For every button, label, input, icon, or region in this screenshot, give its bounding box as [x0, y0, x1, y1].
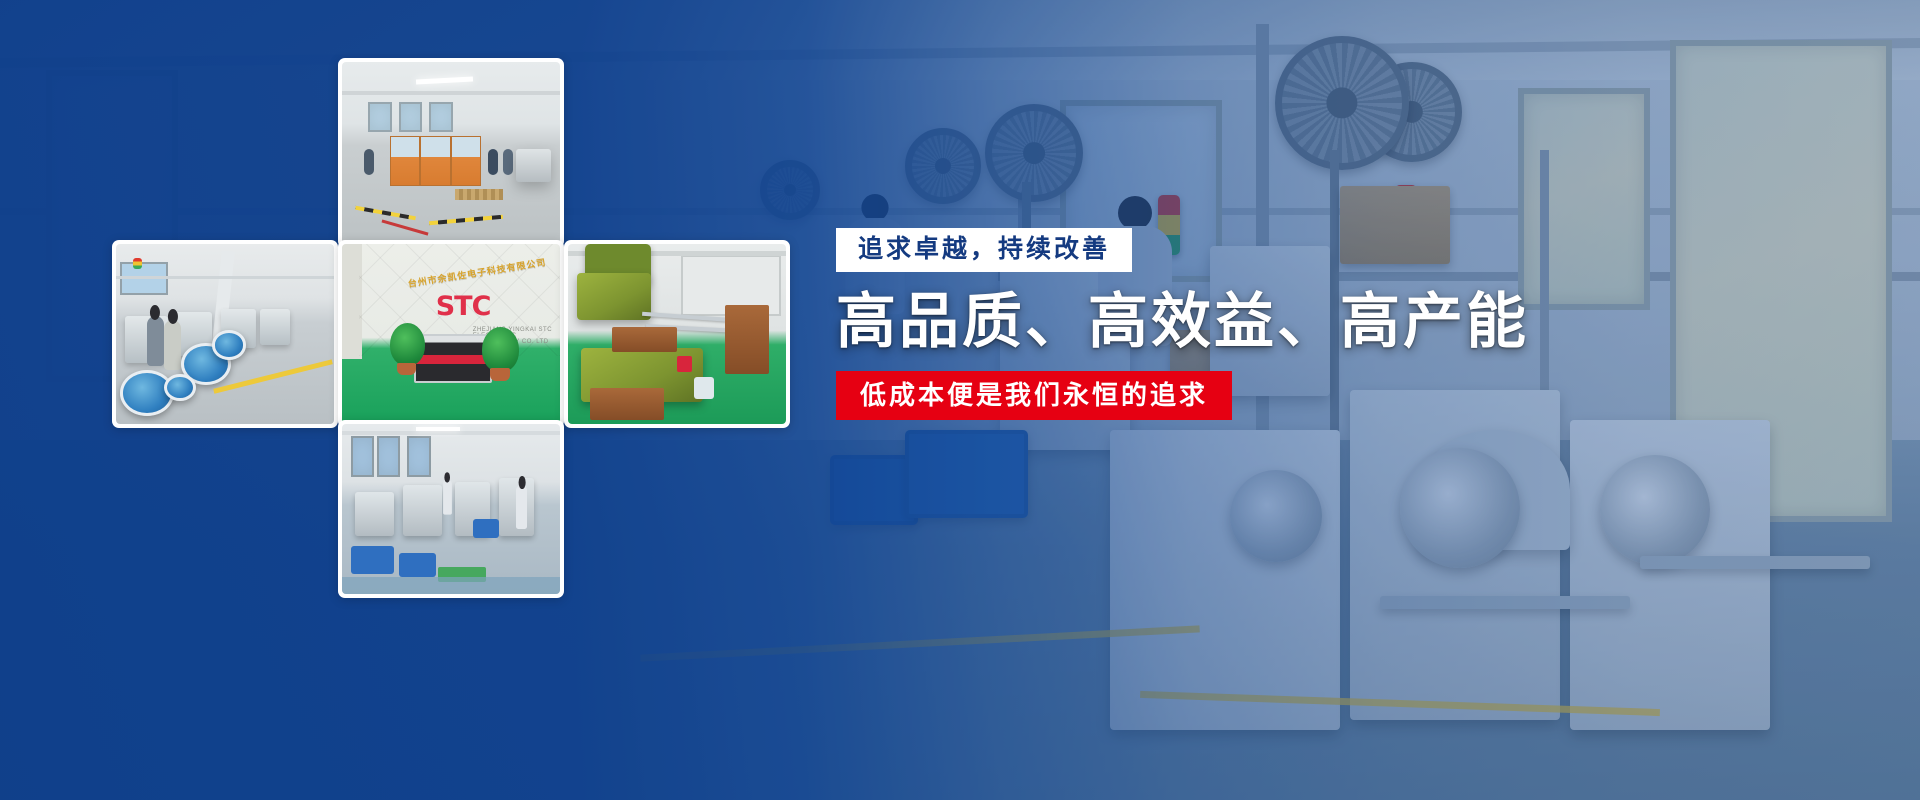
hero-banner: 台州市余凯佐电子科技有限公司 STC ZHEJIANG YINGKAI STC …: [0, 0, 1920, 800]
photo-workshop-assembly-hall: [342, 62, 560, 244]
banner-kicker: 追求卓越，持续改善: [836, 228, 1132, 272]
wall-logo-stc: STC: [436, 291, 491, 322]
photo-machine-production-line: [116, 244, 334, 424]
banner-subbar: 低成本便是我们永恒的追求: [836, 371, 1232, 420]
photo-collage: 台州市余凯佐电子科技有限公司 STC ZHEJIANG YINGKAI STC …: [112, 58, 812, 598]
collage-photo-bottom[interactable]: [338, 420, 564, 598]
collage-photo-right[interactable]: [564, 240, 790, 428]
banner-text-column: 追求卓越，持续改善 高品质、高效益、高产能 低成本便是我们永恒的追求: [836, 228, 1396, 420]
photo-company-reception-lobby: 台州市余凯佐电子科技有限公司 STC ZHEJIANG YINGKAI STC …: [342, 244, 560, 424]
banner-headline: 高品质、高效益、高产能: [836, 288, 1396, 355]
photo-production-floor-bins: [342, 424, 560, 594]
collage-photo-center[interactable]: 台州市余凯佐电子科技有限公司 STC ZHEJIANG YINGKAI STC …: [338, 240, 564, 428]
collage-photo-left[interactable]: [112, 240, 338, 428]
reception-desk: [414, 334, 492, 383]
collage-photo-top[interactable]: [338, 58, 564, 248]
photo-stamping-machine: [568, 244, 786, 424]
